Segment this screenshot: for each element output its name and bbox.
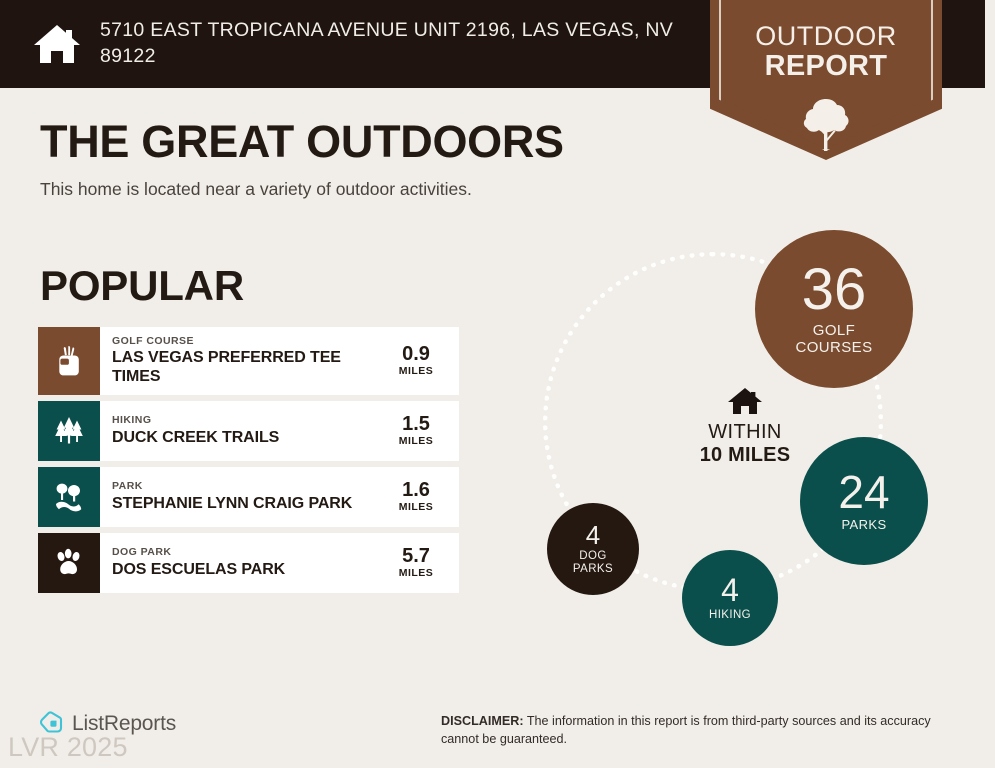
poi-name: DUCK CREEK TRAILS [112,429,377,448]
poi-distance-value: 1.6 [402,480,430,501]
disclaimer: DISCLAIMER: The information in this repo… [441,713,971,749]
bubble-label: DOG PARKS [573,550,613,575]
poi-distance: 5.7 MILES [383,533,459,593]
poi-category: GOLF COURSE [112,335,377,348]
poi-distance-unit: MILES [399,365,434,377]
bubble-dog-parks[interactable]: 4 DOG PARKS [547,503,639,595]
list-item[interactable]: DOG PARK DOS ESCUELAS PARK 5.7 MILES [38,533,459,593]
park-icon [52,480,86,514]
list-item[interactable]: GOLF COURSE LAS VEGAS PREFERRED TEE TIME… [38,327,459,395]
poi-text: HIKING DUCK CREEK TRAILS [100,401,383,461]
bubble-golf-courses[interactable]: 36 GOLF COURSES [755,230,913,388]
badge-text: OUTDOOR REPORT [710,22,942,82]
bubble-label: HIKING [709,609,751,622]
bubble-value: 24 [838,470,889,515]
page-subtitle: This home is located near a variety of o… [40,179,700,200]
bubble-hiking[interactable]: 4 HIKING [682,550,778,646]
bubble-value: 36 [802,262,867,319]
list-item[interactable]: HIKING DUCK CREEK TRAILS 1.5 MILES [38,401,459,461]
badge-title-line1: OUTDOOR [710,22,942,51]
golf-bag-icon [52,344,86,378]
bubble-value: 4 [586,523,600,548]
poi-distance-value: 0.9 [402,344,430,365]
poi-name: DOS ESCUELAS PARK [112,561,377,580]
bubble-value: 4 [721,575,739,606]
within-radius-label: WITHIN 10 MILES [660,385,830,467]
poi-text: PARK STEPHANIE LYNN CRAIG PARK [100,467,383,527]
bubble-label-line2: PARKS [573,563,613,575]
outdoor-report-badge: OUTDOOR REPORT [710,0,942,160]
poi-category: HIKING [112,414,377,427]
poi-distance-unit: MILES [399,435,434,447]
paw-print-icon [52,546,86,580]
pine-trees-icon [52,414,86,448]
house-icon [32,19,82,69]
poi-name: STEPHANIE LYNN CRAIG PARK [112,495,377,514]
poi-distance-unit: MILES [399,567,434,579]
bubble-label-line1: GOLF [813,322,855,339]
watermark: LVR 2025 [8,732,128,763]
popular-heading: POPULAR [40,262,244,310]
property-address: 5710 EAST TROPICANA AVENUE UNIT 2196, LA… [100,18,700,69]
poi-distance: 1.6 MILES [383,467,459,527]
poi-distance-value: 5.7 [402,546,430,567]
poi-distance-value: 1.5 [402,414,430,435]
poi-distance: 0.9 MILES [383,327,459,395]
bubble-label: GOLF COURSES [796,323,873,356]
poi-category: DOG PARK [112,546,377,559]
poi-category: PARK [112,480,377,493]
list-item[interactable]: PARK STEPHANIE LYNN CRAIG PARK 1.6 MILES [38,467,459,527]
poi-icon-tile [38,401,100,461]
poi-distance: 1.5 MILES [383,401,459,461]
poi-text: DOG PARK DOS ESCUELAS PARK [100,533,383,593]
poi-icon-tile [38,327,100,395]
within-line1: WITHIN [660,421,830,444]
bubble-label: PARKS [841,518,886,532]
tree-icon [800,96,852,152]
popular-list: GOLF COURSE LAS VEGAS PREFERRED TEE TIME… [38,327,459,599]
poi-icon-tile [38,467,100,527]
within-line2: 10 MILES [660,444,830,467]
title-block: THE GREAT OUTDOORS This home is located … [40,118,700,200]
badge-title-line2: REPORT [710,51,942,82]
page-title: THE GREAT OUTDOORS [40,118,700,165]
bubble-label-line2: COURSES [796,339,873,356]
poi-text: GOLF COURSE LAS VEGAS PREFERRED TEE TIME… [100,327,383,395]
amenities-bubble-chart: WITHIN 10 MILES 36 GOLF COURSES 24 PARKS… [520,225,980,665]
disclaimer-label: DISCLAIMER: [441,714,524,728]
poi-icon-tile [38,533,100,593]
poi-name: LAS VEGAS PREFERRED TEE TIMES [112,349,377,387]
bubble-parks[interactable]: 24 PARKS [800,437,928,565]
poi-distance-unit: MILES [399,501,434,513]
house-icon [727,385,763,417]
bubble-label-line1: DOG [579,550,606,562]
